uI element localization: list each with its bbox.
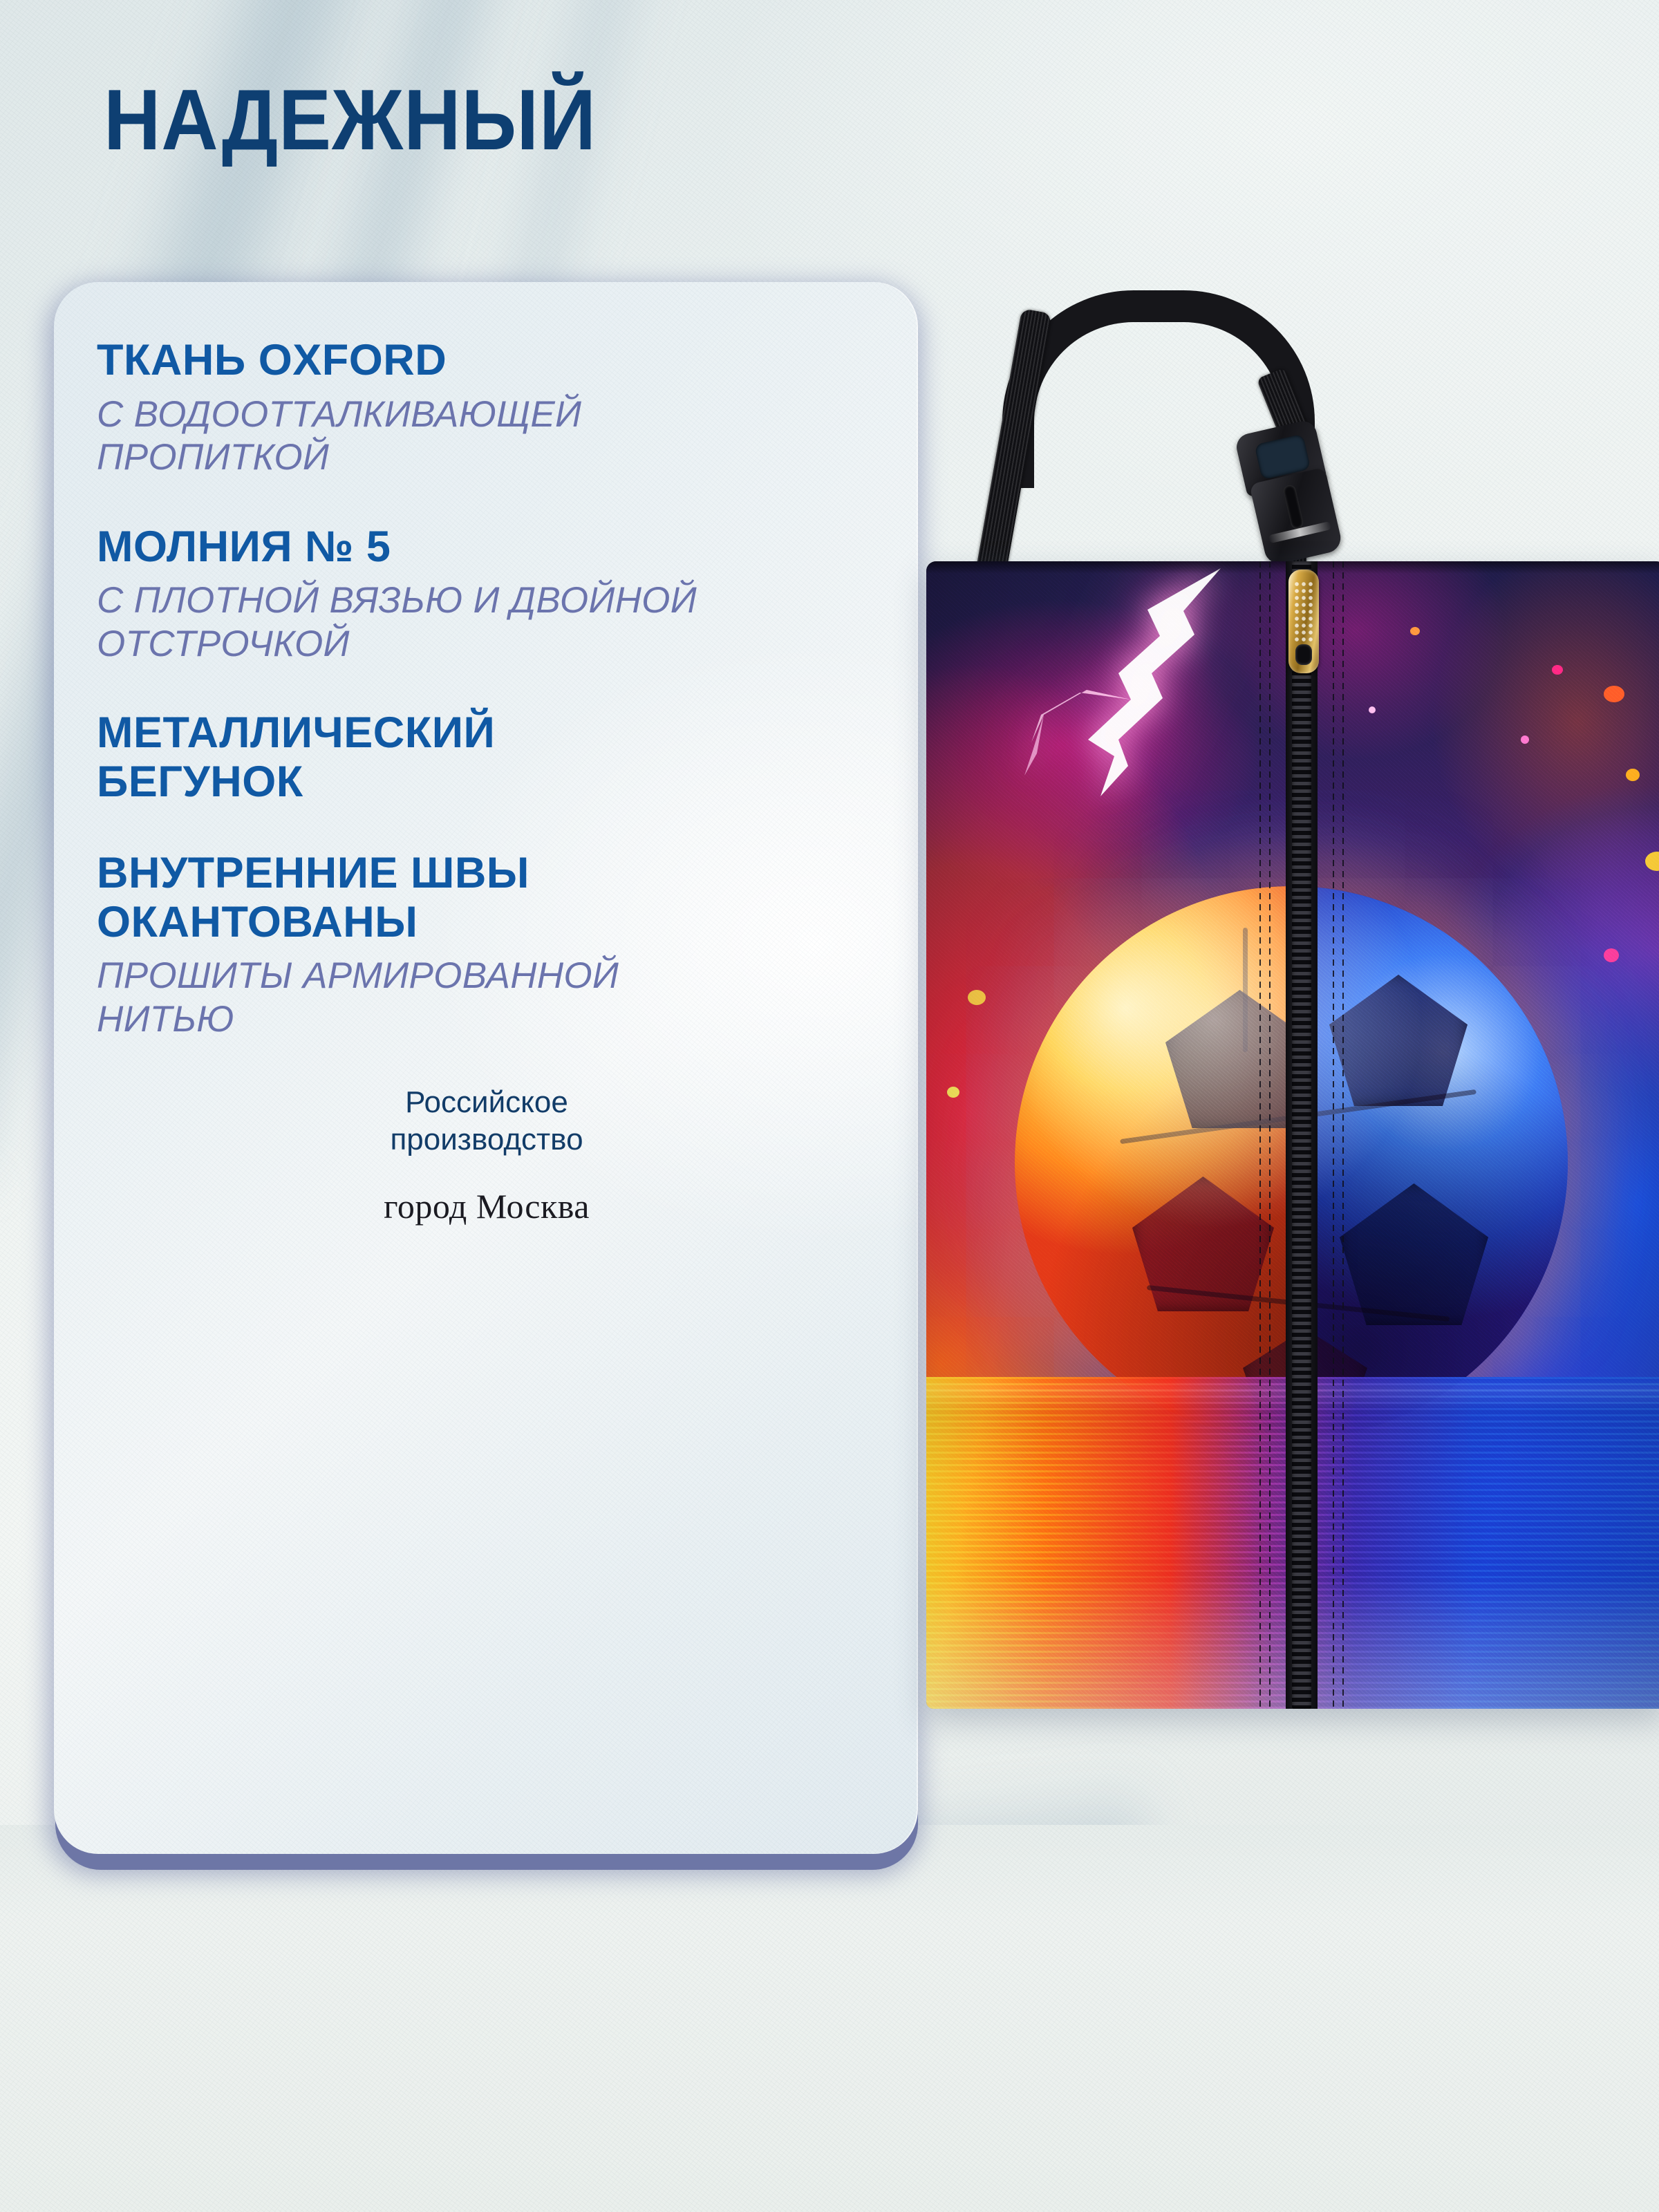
features-list: ТКАНЬ OXFORD С ВОДООТТАЛКИВАЮЩЕЙ ПРОПИТК… (54, 282, 918, 1854)
zipper-pull-eyelet (1295, 644, 1312, 665)
feature-subtitle: ПРОШИТЫ АРМИРОВАННОЙ НИТЬЮ (97, 955, 877, 1041)
zipper[interactable] (1283, 561, 1320, 1709)
stitch-line (1333, 561, 1334, 1709)
stitch-line (1342, 561, 1344, 1709)
feature-item: ВНУТРЕННИЕ ШВЫ ОКАНТОВАНЫ ПРОШИТЫ АРМИРО… (97, 849, 877, 1041)
feature-heading: МОЛНИЯ № 5 (97, 523, 877, 572)
feature-item: ТКАНЬ OXFORD С ВОДООТТАЛКИВАЮЩЕЙ ПРОПИТК… (97, 336, 877, 480)
feature-heading: ВНУТРЕННИЕ ШВЫ ОКАНТОВАНЫ (97, 849, 877, 946)
feature-heading: МЕТАЛЛИЧЕСКИЙ БЕГУНОК (97, 709, 877, 806)
zipper-pull-icon[interactable] (1288, 570, 1319, 673)
feature-subtitle: С ВОДООТТАЛКИВАЮЩЕЙ ПРОПИТКОЙ (97, 393, 877, 480)
features-card: ТКАНЬ OXFORD С ВОДООТТАЛКИВАЮЩЕЙ ПРОПИТК… (54, 282, 918, 1854)
page-title: НАДЕЖНЫЙ (104, 77, 597, 163)
feature-item: МОЛНИЯ № 5 С ПЛОТНОЙ ВЯЗЬЮ И ДВОЙНОЙ ОТС… (97, 523, 877, 666)
bag-handle-strap (1002, 290, 1389, 588)
feature-item: МЕТАЛЛИЧЕСКИЙ БЕГУНОК (97, 709, 877, 806)
zipper-teeth (1292, 561, 1311, 1709)
feature-heading: ТКАНЬ OXFORD (97, 336, 877, 385)
stitch-line (1269, 561, 1271, 1709)
side-release-buckle-icon (1231, 418, 1349, 572)
zipper-pull-texture (1293, 581, 1314, 644)
made-in-label: Российское производство (97, 1084, 877, 1158)
city-label: город Москва (97, 1186, 877, 1226)
stitch-line (1259, 561, 1261, 1709)
feature-subtitle: С ПЛОТНОЙ ВЯЗЬЮ И ДВОЙНОЙ ОТСТРОЧКОЙ (97, 579, 877, 666)
product-photo (926, 290, 1659, 1728)
manufacturing-info: Российское производство город Москва (97, 1084, 877, 1226)
